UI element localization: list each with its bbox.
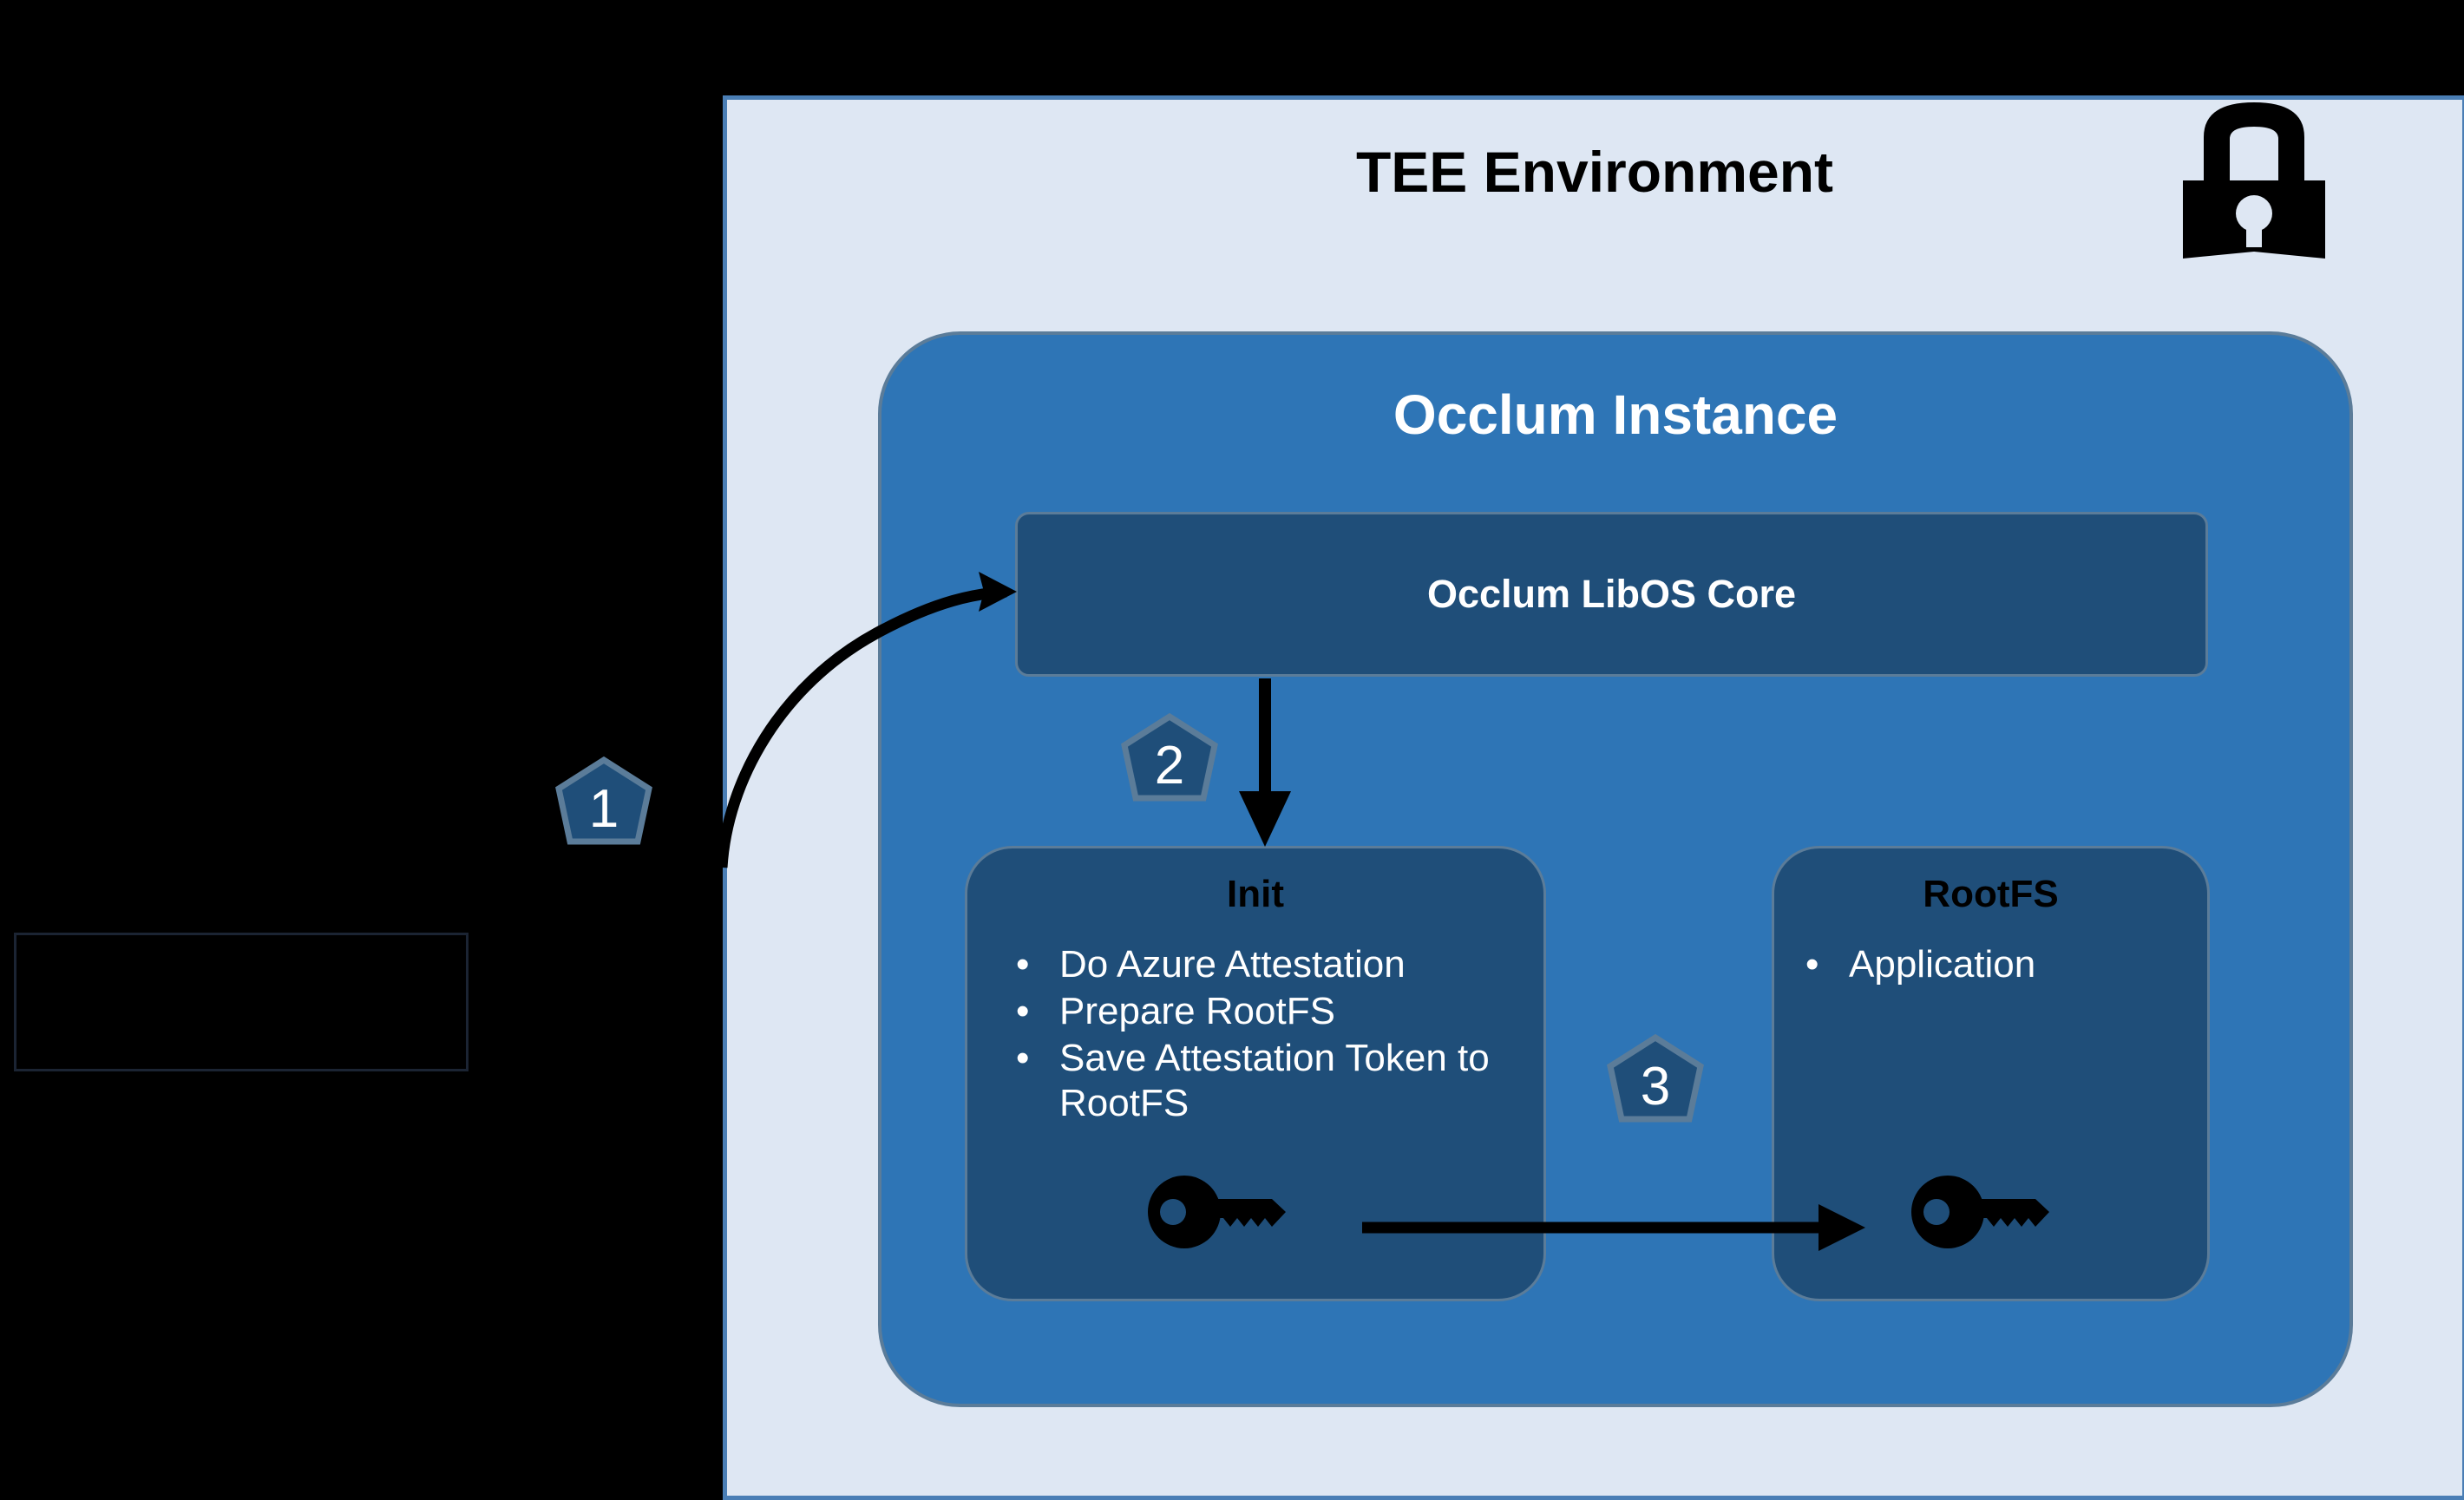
list-item: Save Attestation Token to RootFS [1009, 1036, 1524, 1126]
occlum-libos-core-label: Occlum LibOS Core [1427, 572, 1796, 617]
left-outline-rectangle [14, 933, 469, 1071]
key-icon [1909, 1173, 2065, 1251]
list-item: Prepare RootFS [1009, 989, 1524, 1034]
diagram-canvas: TEE Environment Occlum Instance Occlum L… [0, 0, 2464, 1500]
step-badge-3-number: 3 [1603, 1034, 1707, 1138]
occlum-instance-title: Occlum Instance [881, 383, 2349, 447]
rootfs-bullet-list: Application [1799, 942, 2188, 989]
occlum-libos-core-box: Occlum LibOS Core [1015, 512, 2208, 677]
step-badge-2-number: 2 [1117, 713, 1222, 817]
step-badge-1-number: 1 [552, 757, 656, 861]
padlock-icon [2167, 97, 2341, 262]
step-badge-1: 1 [552, 757, 656, 861]
step-badge-3: 3 [1603, 1034, 1707, 1138]
list-item: Application [1799, 942, 2188, 987]
init-title: Init [967, 873, 1543, 916]
init-bullet-list: Do Azure Attestation Prepare RootFS Save… [1009, 942, 1524, 1128]
list-item: Do Azure Attestation [1009, 942, 1524, 987]
rootfs-title: RootFS [1774, 873, 2207, 916]
step-badge-2: 2 [1117, 713, 1222, 817]
key-icon [1145, 1173, 1301, 1251]
